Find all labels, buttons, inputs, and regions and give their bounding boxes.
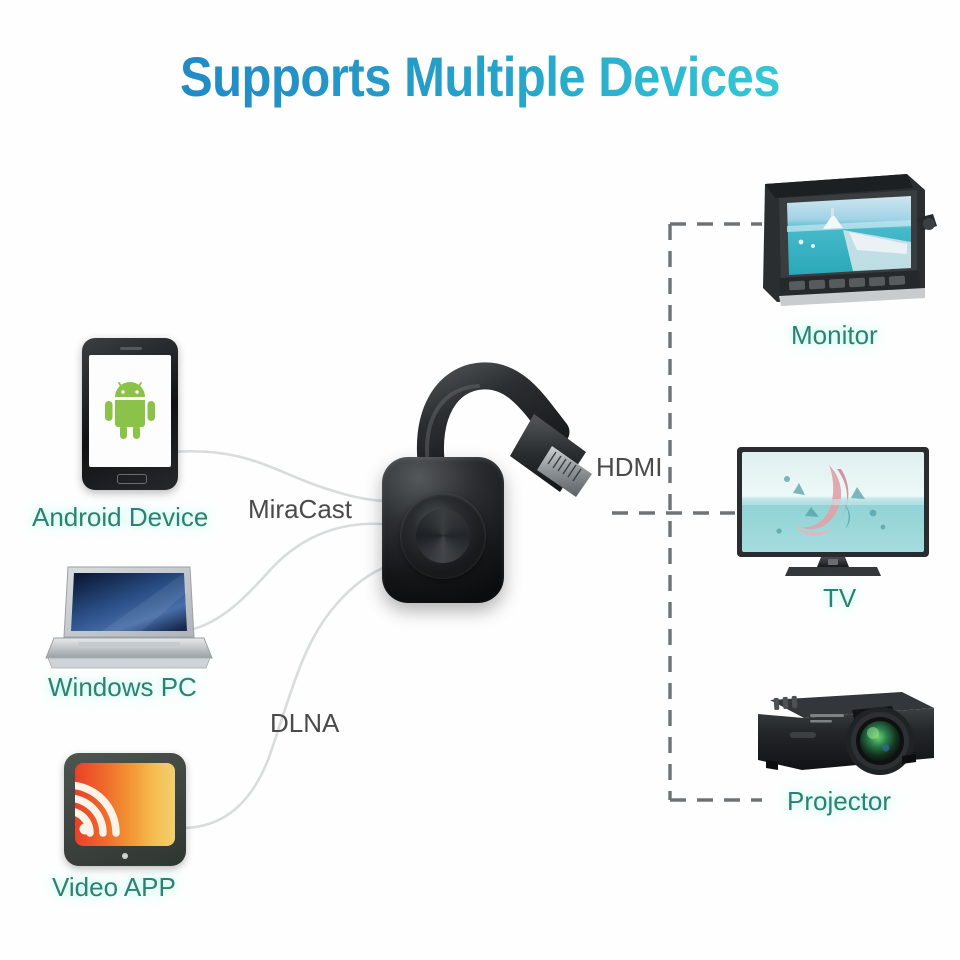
cast-wifi-icon [75,763,175,846]
tablet-home-indicator [122,853,128,859]
label-tv: TV [823,583,856,614]
label-hdmi: HDMI [596,452,662,483]
laptop-illustration [44,562,214,680]
android-phone-icon[interactable] [82,338,178,490]
label-projector: Projector [787,786,891,817]
curve-pc-to-dongle [190,524,382,630]
phone-speaker-grille [120,347,142,350]
diagram-canvas: Supports Multiple Devices [0,0,960,960]
label-monitor: Monitor [791,320,878,351]
hdmi-plug [510,414,592,497]
wireless-display-dongle[interactable] [382,457,504,603]
tv-illustration [733,443,933,580]
projector-icon[interactable] [752,686,937,778]
label-miracast: MiraCast [248,494,352,525]
hdmi-flat-cable [430,376,556,470]
monitor-illustration [757,168,941,308]
video-app-screen [75,763,175,846]
video-app-tablet-icon[interactable] [64,753,186,866]
page-title: Supports Multiple Devices [0,46,960,110]
label-video-app: Video APP [52,872,176,903]
android-robot-icon [101,380,159,442]
tv-icon[interactable] [733,443,933,580]
phone-home-button [117,474,147,484]
label-dlna: DLNA [270,708,339,739]
dongle-center-disc [400,493,486,579]
label-windows-pc: Windows PC [48,672,197,703]
projector-illustration [752,686,937,778]
laptop-icon[interactable] [44,562,214,680]
label-android-device: Android Device [32,502,208,533]
phone-screen [89,355,171,467]
monitor-icon[interactable] [757,168,941,308]
